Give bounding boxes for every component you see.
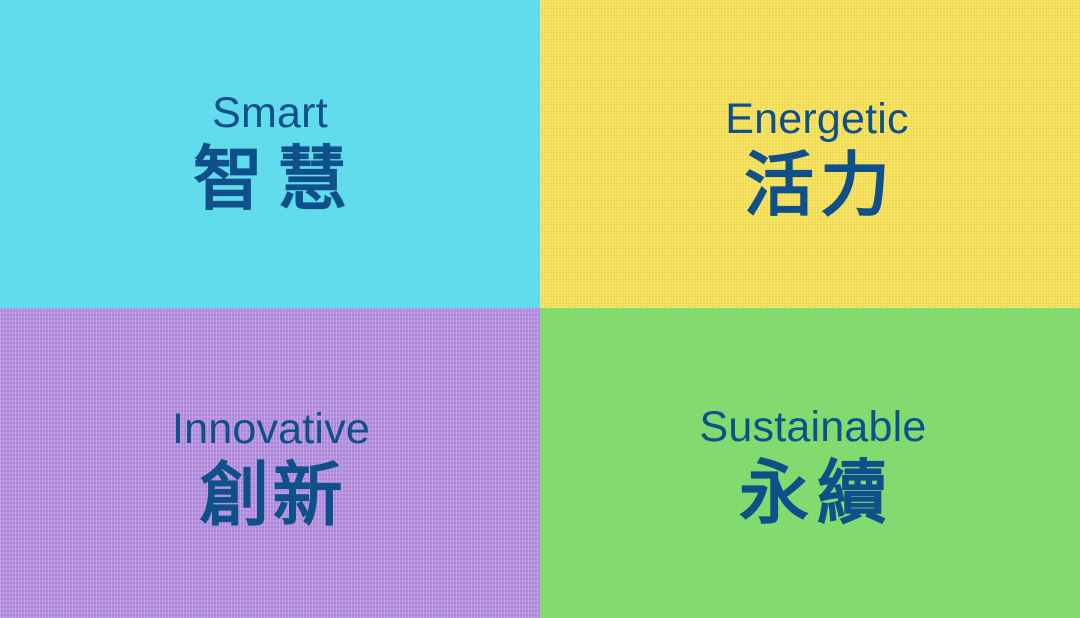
brand-values-poster: Smart 智慧 Energetic 活力 Innovative 創新 Sust… [0, 0, 1080, 618]
label-stack-innovative: Innovative 創新 [172, 408, 370, 530]
label-stack-energetic: Energetic 活力 [725, 98, 908, 220]
quadrant-sustainable: Sustainable 永續 [540, 308, 1080, 618]
english-label-energetic: Energetic [725, 98, 908, 141]
english-label-sustainable: Sustainable [700, 406, 927, 449]
chinese-label-sustainable: 永續 [731, 458, 895, 528]
chinese-label-energetic: 活力 [738, 150, 896, 220]
chinese-label-smart: 智慧 [179, 144, 361, 214]
quadrant-energetic: Energetic 活力 [540, 0, 1080, 308]
label-stack-smart: Smart 智慧 [179, 92, 361, 214]
english-label-smart: Smart [212, 92, 328, 135]
chinese-label-innovative: 創新 [197, 460, 346, 530]
quadrant-smart: Smart 智慧 [0, 0, 540, 308]
label-stack-sustainable: Sustainable 永續 [700, 406, 927, 528]
english-label-innovative: Innovative [172, 408, 370, 451]
quadrant-innovative: Innovative 創新 [0, 308, 540, 618]
